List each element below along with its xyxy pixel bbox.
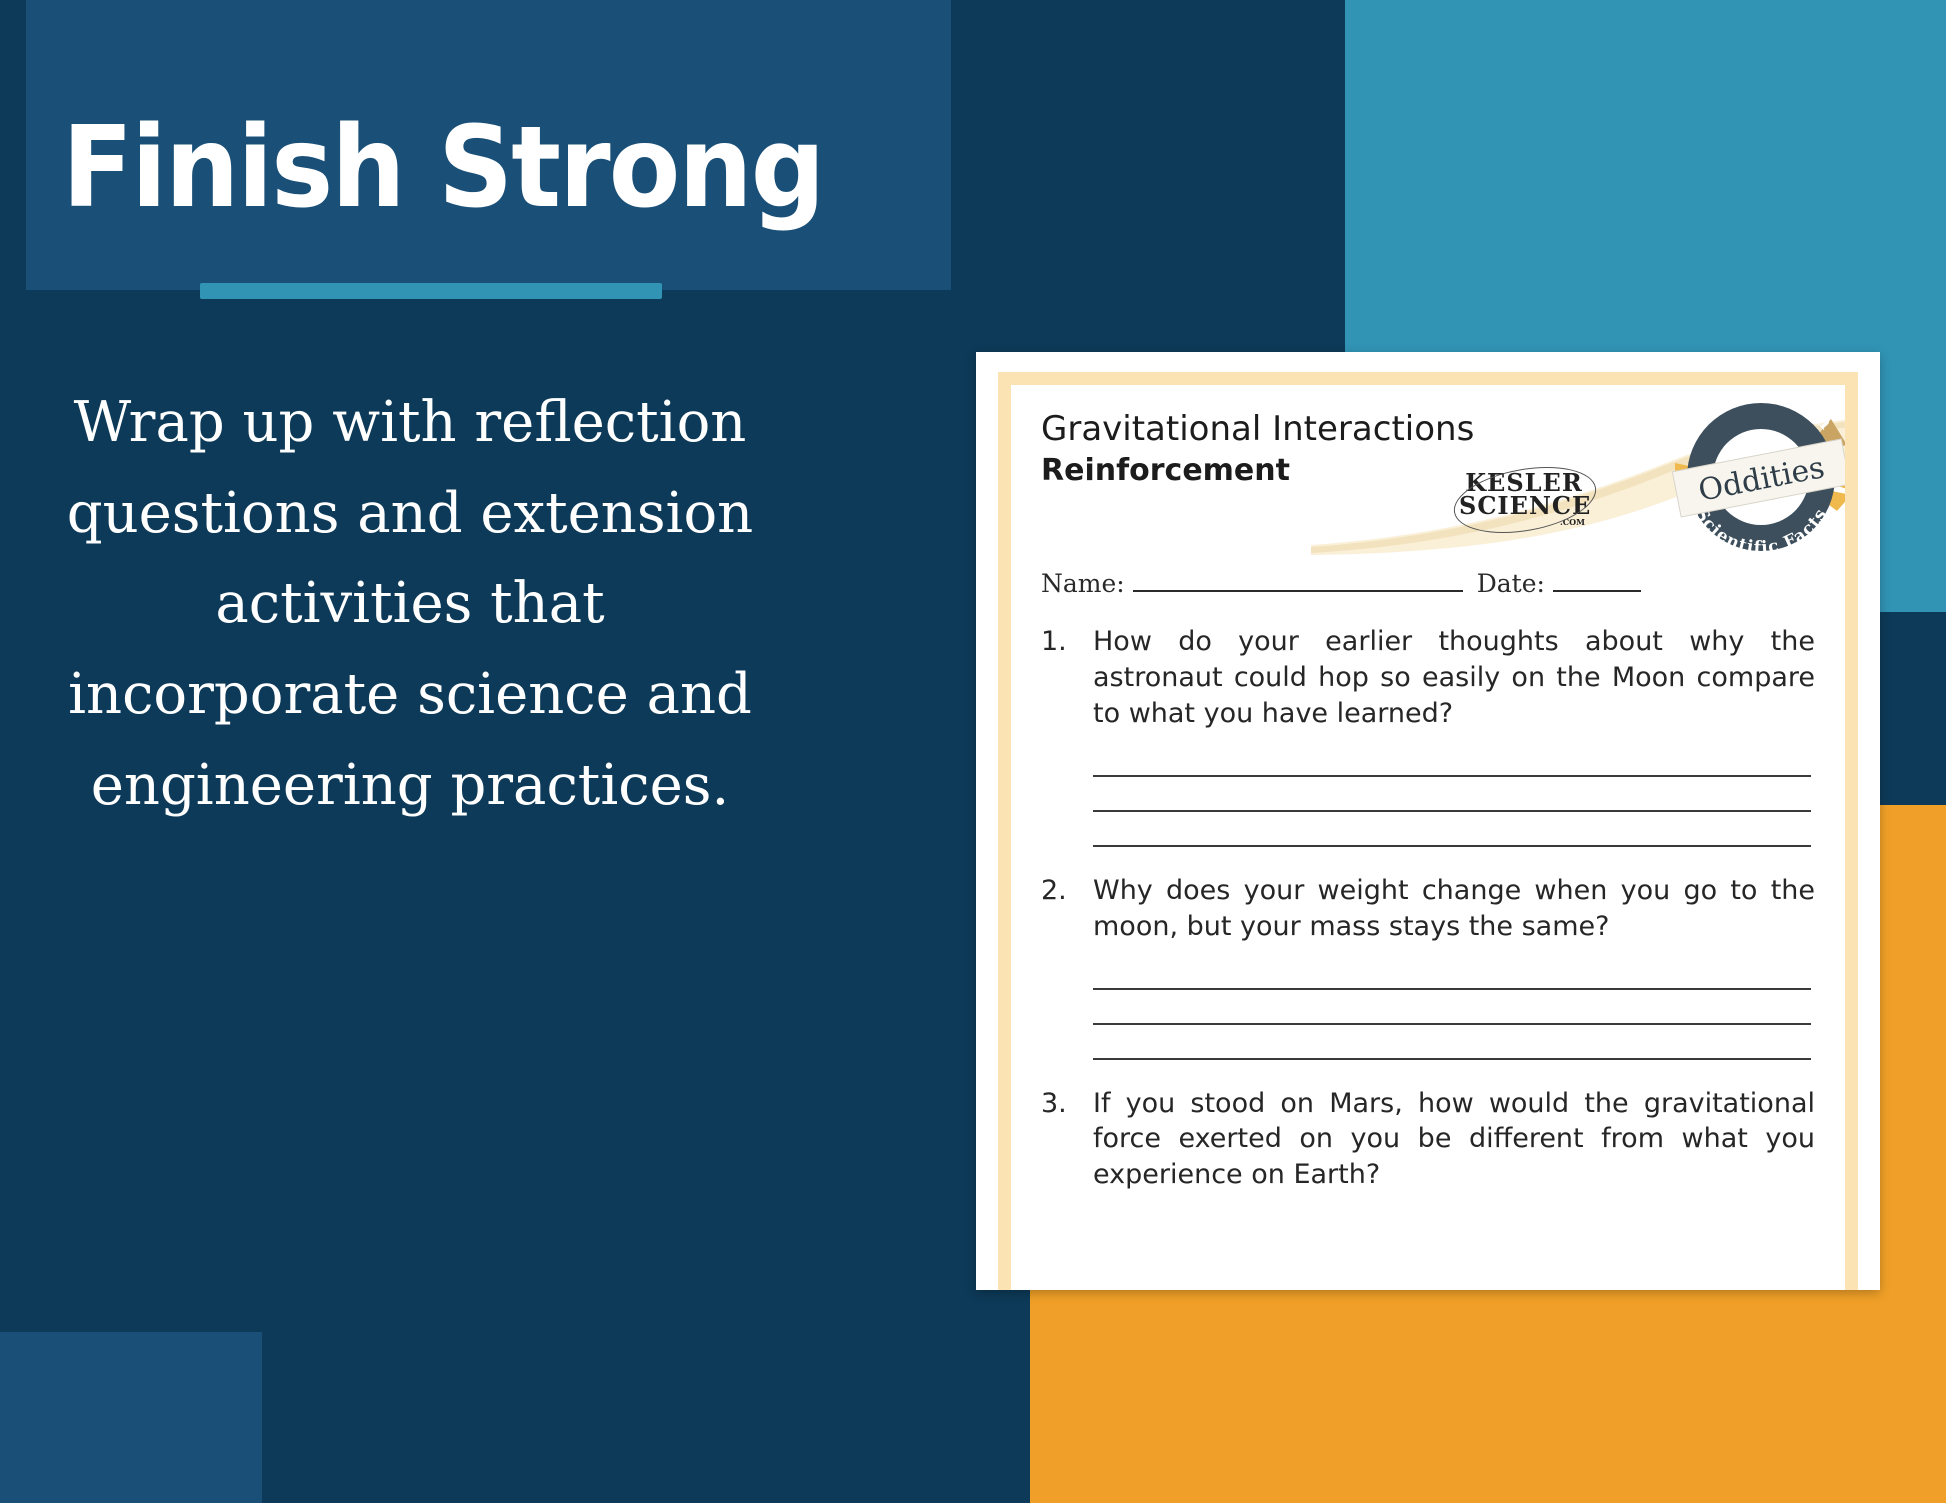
kesler-science-logo: KESLER SCIENCE .COM xyxy=(1459,471,1589,527)
answer-line[interactable] xyxy=(1093,990,1811,1025)
question-item: 1. How do your earlier thoughts about wh… xyxy=(1041,624,1845,732)
answer-line[interactable] xyxy=(1093,742,1811,777)
answer-lines[interactable] xyxy=(1093,955,1845,1060)
question-number: 3. xyxy=(1041,1086,1093,1194)
bottom-left-accent-panel xyxy=(0,1332,262,1503)
worksheet-questions: 1. How do your earlier thoughts about wh… xyxy=(1011,624,1845,1193)
question-text: Why does your weight change when you go … xyxy=(1093,873,1845,945)
worksheet-image: Gravitational Interactions Reinforcement… xyxy=(976,352,1880,1290)
question-text: How do your earlier thoughts about why t… xyxy=(1093,624,1845,732)
question-spacer xyxy=(1011,1060,1845,1086)
date-label: Date: xyxy=(1477,569,1545,598)
question-number: 1. xyxy=(1041,624,1093,732)
question-item: 2. Why does your weight change when you … xyxy=(1041,873,1845,945)
worksheet-title: Gravitational Interactions xyxy=(1041,409,1474,449)
name-date-row: Name: Date: xyxy=(1041,569,1845,598)
question-text: If you stood on Mars, how would the grav… xyxy=(1093,1086,1845,1194)
worksheet-right-margin xyxy=(1858,352,1880,1290)
date-input-line[interactable] xyxy=(1553,589,1641,592)
name-label: Name: xyxy=(1041,569,1125,598)
answer-line[interactable] xyxy=(1093,812,1811,847)
question-item: 3. If you stood on Mars, how would the g… xyxy=(1041,1086,1845,1194)
worksheet-page: Gravitational Interactions Reinforcement… xyxy=(998,372,1858,1290)
name-input-line[interactable] xyxy=(1133,589,1463,592)
answer-line[interactable] xyxy=(1093,777,1811,812)
slide-body-text: Wrap up with reflection questions and ex… xyxy=(60,378,760,832)
oddities-badge: Little-known Scientific Facts Oddities xyxy=(1661,393,1845,555)
answer-line[interactable] xyxy=(1093,1025,1811,1060)
question-number: 2. xyxy=(1041,873,1093,945)
worksheet-subtitle: Reinforcement xyxy=(1041,453,1290,488)
title-underline-bar xyxy=(200,283,662,299)
slide-title: Finish Strong xyxy=(62,112,823,224)
presentation-slide: Finish Strong Wrap up with reflection qu… xyxy=(0,0,1946,1503)
answer-lines[interactable] xyxy=(1093,742,1845,847)
worksheet-header: Gravitational Interactions Reinforcement… xyxy=(1011,385,1845,557)
answer-line[interactable] xyxy=(1093,955,1811,990)
question-spacer xyxy=(1011,847,1845,873)
